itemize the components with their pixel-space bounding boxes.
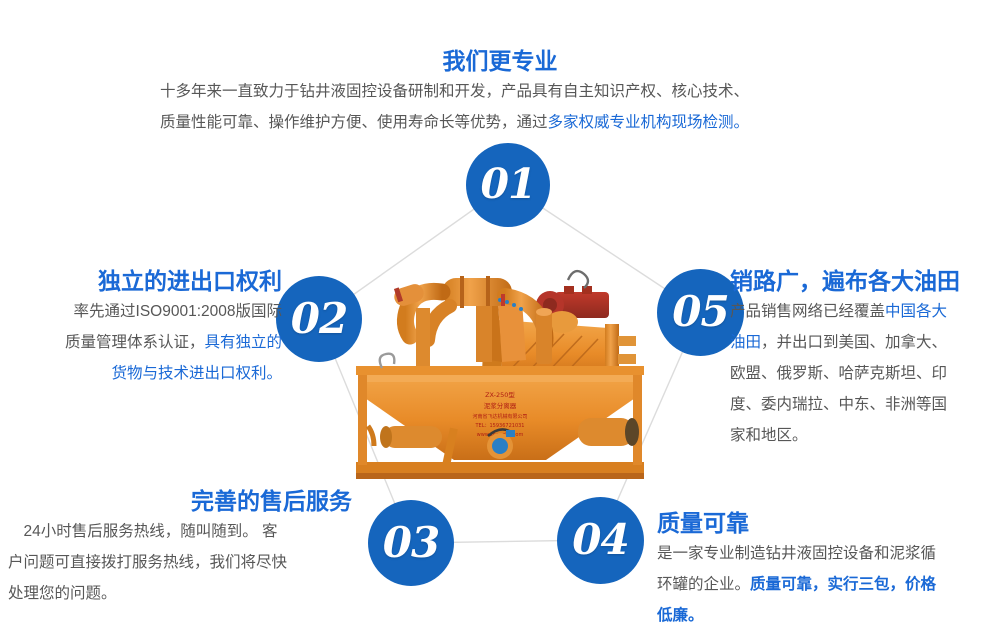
section-01-line-2a: 质量性能可靠、操作维护方便、使用寿命长等优势，通过: [160, 114, 548, 131]
section-02: 独立的进出口权利 率先通过ISO9001:2008版国际 质量管理体系认证，具有…: [8, 266, 282, 389]
section-04-line-2: 环罐的企业。质量可靠，实行三包，价格: [657, 569, 995, 600]
badge-02[interactable]: 02: [276, 276, 362, 362]
section-04-line-3: 低廉。: [657, 600, 995, 631]
badge-01[interactable]: 01: [466, 143, 550, 227]
section-05-body: 产品销售网络已经覆盖中国各大 油田，并出口到美国、加拿大、 欧盟、俄罗斯、哈萨克…: [730, 296, 998, 451]
section-03-body: 24小时售后服务热线，随叫随到。 客 户问题可直接拨打服务热线，我们将尽快 处理…: [8, 516, 352, 609]
section-01-heading: 我们更专业: [160, 46, 840, 76]
svg-text:泥浆分离器: 泥浆分离器: [484, 401, 517, 410]
section-05-line-1: 产品销售网络已经覆盖中国各大: [730, 296, 998, 327]
section-03-heading: 完善的售后服务: [8, 486, 352, 516]
section-01: 我们更专业 十多年来一直致力于钻井液固控设备研制和开发，产品具有自主知识产权、核…: [160, 46, 840, 138]
section-02-line-2a: 质量管理体系认证，: [65, 334, 205, 351]
section-05-line-2: 油田，并出口到美国、加拿大、: [730, 327, 998, 358]
section-01-line-1: 十多年来一直致力于钻井液固控设备研制和开发，产品具有自主知识产权、核心技术、: [160, 76, 840, 107]
infographic-canvas: ZX-250型 泥浆分离器 河南省飞达机械有限公司 TEL：1593672103…: [0, 0, 1000, 642]
section-03-line-1: 24小时售后服务热线，随叫随到。 客: [8, 516, 352, 547]
section-01-line-2: 质量性能可靠、操作维护方便、使用寿命长等优势，通过多家权威专业机构现场检测。: [160, 107, 840, 138]
section-03-line-3: 处理您的问题。: [8, 578, 352, 609]
section-05-line-3: 欧盟、俄罗斯、哈萨克斯坦、印: [730, 358, 998, 389]
section-05-line-1-highlight: 中国各大: [885, 303, 947, 320]
section-02-heading: 独立的进出口权利: [8, 266, 282, 296]
section-02-line-2-highlight: 具有独立的: [204, 334, 282, 351]
section-04-line-1: 是一家专业制造钻井液固控设备和泥浆循: [657, 538, 995, 569]
section-02-body: 率先通过ISO9001:2008版国际 质量管理体系认证，具有独立的 货物与技术…: [8, 296, 282, 389]
section-05-line-1a: 产品销售网络已经覆盖: [730, 303, 885, 320]
section-02-line-2: 质量管理体系认证，具有独立的: [8, 327, 282, 358]
section-05: 销路广，遍布各大油田 产品销售网络已经覆盖中国各大 油田，并出口到美国、加拿大、…: [730, 266, 998, 451]
section-03: 完善的售后服务 24小时售后服务热线，随叫随到。 客 户问题可直接拨打服务热线，…: [8, 486, 352, 609]
badge-04-label: 04: [572, 515, 628, 564]
svg-text:ZX-250型: ZX-250型: [485, 390, 515, 399]
section-04-line-2-highlight: 质量可靠，实行三包，价格: [750, 576, 936, 593]
section-05-line-2b: ，并出口到美国、加拿大、: [761, 334, 947, 351]
section-03-line-2: 户问题可直接拨打服务热线，我们将尽快: [8, 547, 352, 578]
section-05-heading: 销路广，遍布各大油田: [730, 266, 998, 296]
section-02-line-1: 率先通过ISO9001:2008版国际: [8, 296, 282, 327]
badge-03[interactable]: 03: [368, 500, 454, 586]
badge-02-label: 02: [291, 294, 347, 343]
section-04-heading: 质量可靠: [657, 508, 995, 538]
section-02-line-3: 货物与技术进出口权利。: [8, 358, 282, 389]
badge-05-label: 05: [672, 287, 728, 336]
section-01-line-2-highlight: 多家权威专业机构现场检测。: [548, 114, 750, 131]
badge-01-label: 01: [480, 160, 535, 208]
svg-text:河南省飞达机械有限公司: 河南省飞达机械有限公司: [472, 413, 527, 420]
section-04-body: 是一家专业制造钻井液固控设备和泥浆循 环罐的企业。质量可靠，实行三包，价格 低廉…: [657, 538, 995, 631]
badge-03-label: 03: [383, 518, 439, 567]
section-05-line-2-highlight: 油田: [730, 334, 761, 351]
section-04-line-2a: 环罐的企业。: [657, 576, 750, 593]
section-05-line-4: 度、委内瑞拉、中东、非洲等国: [730, 389, 998, 420]
machine-illustration: ZX-250型 泥浆分离器 河南省飞达机械有限公司 TEL：1593672103…: [350, 250, 650, 490]
badge-04[interactable]: 04: [557, 497, 644, 584]
section-04: 质量可靠 是一家专业制造钻井液固控设备和泥浆循 环罐的企业。质量可靠，实行三包，…: [657, 508, 995, 631]
section-01-body: 十多年来一直致力于钻井液固控设备研制和开发，产品具有自主知识产权、核心技术、 质…: [160, 76, 840, 138]
section-05-line-5: 家和地区。: [730, 420, 998, 451]
svg-text:TEL：15936721031: TEL：15936721031: [475, 423, 525, 429]
